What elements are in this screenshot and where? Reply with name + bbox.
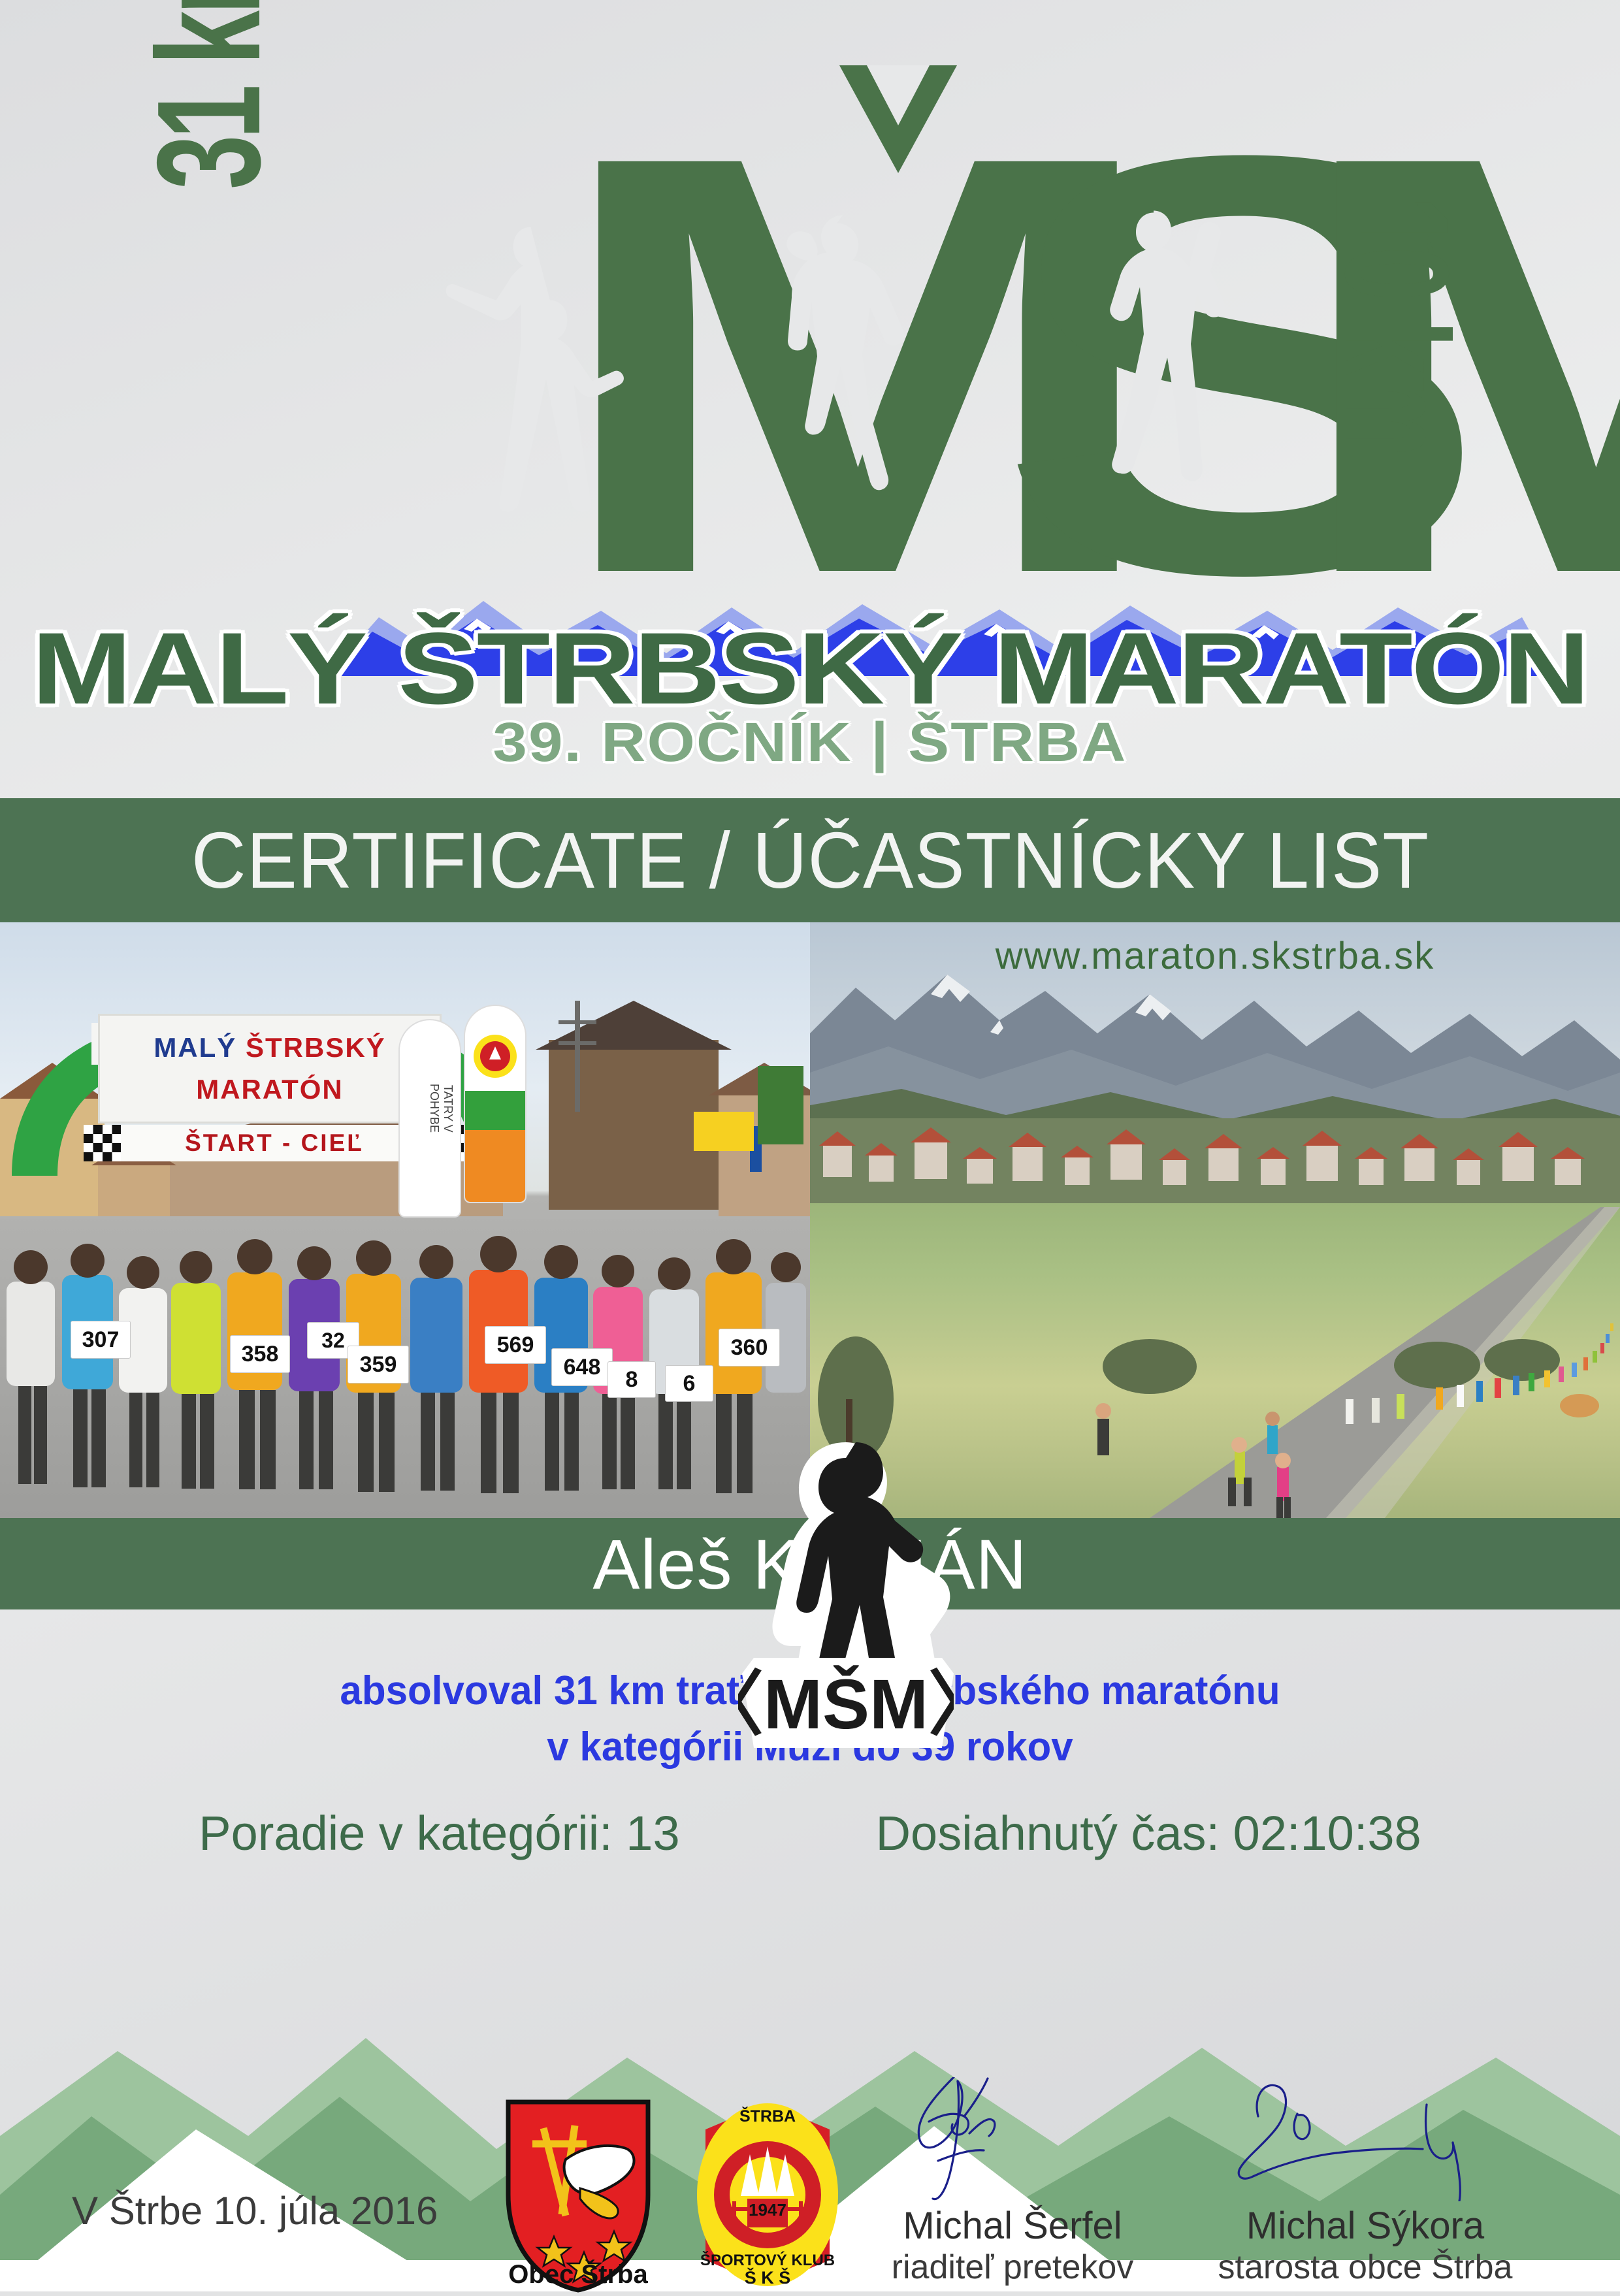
edition-subtitle: 39. ROČNÍK | ŠTRBA: [0, 711, 1620, 774]
tatry-v-pohybe-flag: TATRY V POHYBE: [400, 1020, 460, 1216]
bib-number: 6: [665, 1365, 713, 1402]
signer-name: Michal Sýkora: [1182, 2204, 1548, 2248]
signer-role: starosta obce Štrba: [1182, 2248, 1548, 2287]
checker-flag-left-icon: [84, 1125, 121, 1161]
results-row: Poradie v kategórii: 13 Dosiahnutý čas: …: [0, 1805, 1620, 1861]
runner-arms-out-icon: [444, 216, 640, 581]
bib-number: 360: [719, 1329, 780, 1366]
signer-name: Michal Šerfel: [830, 2204, 1195, 2248]
certificate-footer: V Štrbe 10. júla 2016 Obec Štrba: [0, 1999, 1620, 2291]
flag-green-band: [465, 1091, 525, 1130]
sks-club-logo-icon: [472, 1033, 518, 1079]
village-panorama: [810, 1118, 1620, 1210]
certificate-page: M S M 31 km 10 km: [0, 0, 1620, 2291]
photo-strip: MALÝ ŠTRBSKÝ MARATÓN ŠTART - CIEĽ TATRY …: [0, 922, 1620, 1518]
sks-strba-club-logo-icon: 1947 ŠTRBA ŠPORTOVÝ KLUB Š K Š: [686, 2097, 849, 2293]
certificate-title-band: CERTIFICATE / ÚČASTNÍCKY LIST: [0, 798, 1620, 922]
bib-number: 569: [485, 1326, 546, 1364]
arch-banner: MALÝ ŠTRBSKÝ MARATÓN: [98, 1014, 442, 1124]
runner-fist-up-icon: [1052, 202, 1248, 581]
start-finish-banner: ŠTART - CIEĽ: [121, 1125, 428, 1161]
place-date: V Štrbe 10. júla 2016: [72, 2188, 438, 2233]
time-label: Dosiahnutý čas: 02:10:38: [876, 1805, 1421, 1861]
distance-10km-label: 10 km: [1312, 196, 1482, 454]
sticker-label: 〈MŠM〉: [738, 1664, 954, 1743]
bib-number: 8: [607, 1361, 656, 1398]
logo-header: M S M 31 km 10 km: [0, 0, 1620, 794]
course-landscape-photo: www.maraton.skstrba.sk: [810, 922, 1620, 1518]
race-start-photo: MALÝ ŠTRBSKÝ MARATÓN ŠTART - CIEĽ TATRY …: [0, 922, 810, 1518]
runner-female-icon: [745, 206, 941, 591]
signature-block-mayor: Michal Sýkora starosta obce Štrba: [1182, 2077, 1548, 2287]
bib-number: 648: [551, 1348, 613, 1386]
club-bottom-text: Š K Š: [745, 2267, 791, 2288]
tatry-flag-text: TATRY V POHYBE: [405, 1059, 455, 1157]
certificate-title: CERTIFICATE / ÚČASTNÍCKY LIST: [191, 815, 1429, 906]
bib-number: 358: [230, 1335, 290, 1373]
arch-banner-line1: MALÝ ŠTRBSKÝ: [154, 1032, 385, 1063]
club-ring-text: ŠPORTOVÝ KLUB: [700, 2251, 835, 2269]
club-year: 1947: [749, 2200, 786, 2220]
arch-banner-line2: MARATÓN: [196, 1074, 344, 1105]
bib-number: 359: [348, 1346, 409, 1383]
signature-block-race-director: Michal Šerfel riaditeľ pretekov: [830, 2077, 1195, 2287]
rank-label: Poradie v kategórii: 13: [199, 1805, 679, 1861]
flag-orange-band: [465, 1130, 525, 1202]
municipality-caption: Obec Štrba: [483, 2260, 673, 2289]
bib-number: 307: [71, 1321, 131, 1359]
handwritten-signature-icon: [1182, 2077, 1548, 2201]
signer-role: riaditeľ pretekov: [830, 2248, 1195, 2287]
tatra-mountains: [810, 948, 1620, 1144]
handwritten-signature-icon: [830, 2077, 1195, 2201]
club-top-text: ŠTRBA: [739, 2106, 796, 2126]
msm-runner-sticker-icon: 〈MŠM〉: [738, 1438, 954, 1752]
sks-club-flag: [465, 1006, 525, 1202]
website-url: www.maraton.skstrba.sk: [810, 934, 1620, 978]
distance-31km-label: 31 km: [124, 0, 294, 189]
